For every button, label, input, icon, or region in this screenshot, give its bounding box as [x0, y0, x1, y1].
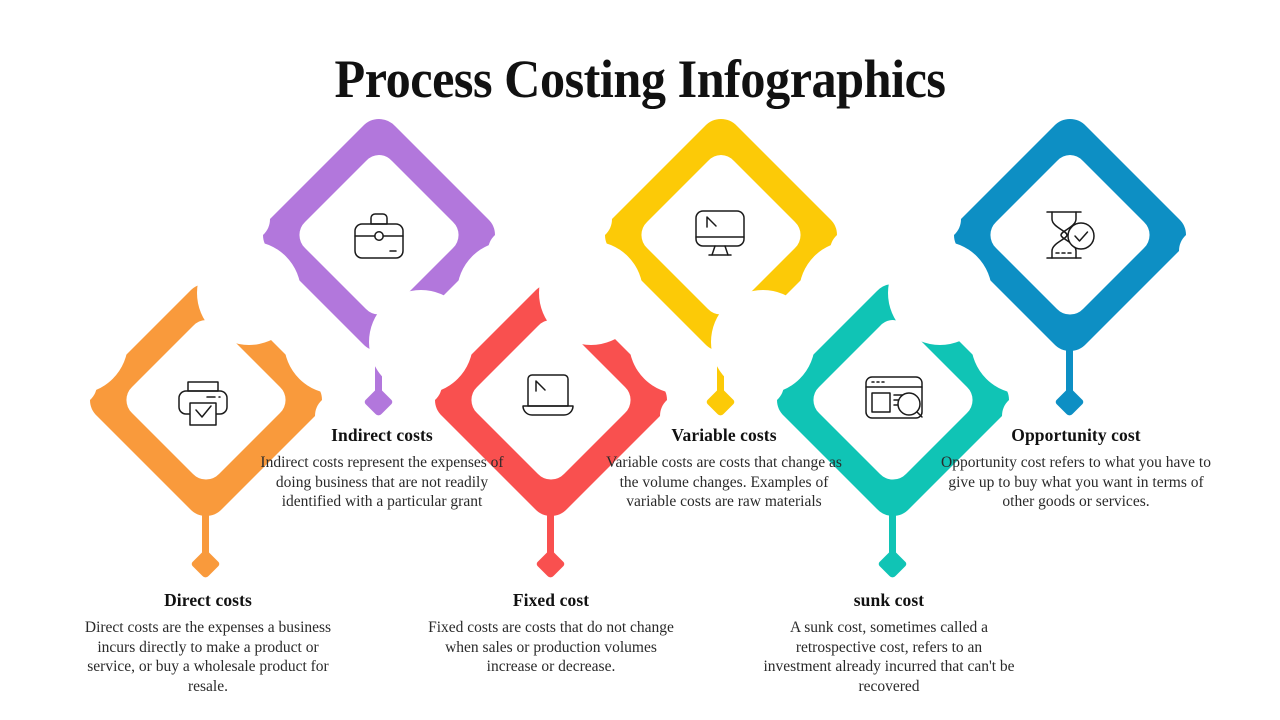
- infographic-canvas: Process Costing Infographics: [0, 0, 1280, 720]
- node-text-sunk-cost: sunk cost A sunk cost, sometimes called …: [760, 590, 1018, 697]
- briefcase-icon: [355, 214, 403, 258]
- node-graphic-opportunity-cost[interactable]: [888, 119, 1186, 415]
- hourglass-clock-icon: [1047, 212, 1094, 258]
- notch-left-opportunity-cost: [888, 241, 992, 345]
- monitor-cursor-icon: [696, 211, 744, 255]
- connector-stem-fixed-cost: [547, 470, 554, 565]
- connector-dot-sunk-cost: [879, 549, 907, 577]
- notch-right-indirect-costs: [457, 241, 561, 345]
- connector-stem-sunk-cost: [889, 470, 896, 565]
- printer-check-icon: [179, 382, 227, 425]
- node-text-variable-costs: Variable costs Variable costs are costs …: [598, 425, 850, 512]
- diamond-outer-indirect-costs: [263, 119, 495, 351]
- notch-left-variable-costs: [539, 241, 643, 345]
- node-heading-sunk-cost: sunk cost: [760, 590, 1018, 612]
- notch-left-fixed-cost: [369, 290, 473, 394]
- connector-dot-opportunity-cost: [1056, 387, 1084, 415]
- node-body-variable-costs: Variable costs are costs that change as …: [598, 453, 850, 512]
- diamond-outer-variable-costs: [605, 119, 837, 351]
- node-heading-fixed-cost: Fixed cost: [424, 590, 678, 612]
- page-title: Process Costing Infographics: [45, 50, 1235, 109]
- notch-right-sunk-cost: [971, 290, 1075, 394]
- node-heading-indirect-costs: Indirect costs: [256, 425, 508, 447]
- connector-dot-fixed-cost: [537, 549, 565, 577]
- node-text-indirect-costs: Indirect costs Indirect costs represent …: [256, 425, 508, 512]
- notch-right-fixed-cost: [629, 290, 733, 394]
- node-graphic-indirect-costs[interactable]: [197, 119, 561, 415]
- node-text-opportunity-cost: Opportunity cost Opportunity cost refers…: [932, 425, 1220, 512]
- notch-left-indirect-costs: [197, 241, 301, 345]
- connector-dot-variable-costs: [707, 387, 735, 415]
- diamond-inner-variable-costs: [641, 155, 800, 315]
- node-heading-direct-costs: Direct costs: [80, 590, 336, 612]
- notch-left-sunk-cost: [711, 290, 815, 394]
- node-text-direct-costs: Direct costs Direct costs are the expens…: [80, 590, 336, 697]
- connector-stem-direct-costs: [202, 470, 209, 565]
- diamond-inner-opportunity-cost: [990, 155, 1149, 315]
- node-graphic-variable-costs[interactable]: [539, 119, 903, 415]
- node-heading-opportunity-cost: Opportunity cost: [932, 425, 1220, 447]
- node-body-fixed-cost: Fixed costs are costs that do not change…: [424, 618, 678, 677]
- connector-stem-opportunity-cost: [1066, 305, 1073, 404]
- diamond-outer-opportunity-cost: [954, 119, 1186, 351]
- notch-right-variable-costs: [799, 241, 903, 345]
- notch-left-direct-costs: [24, 290, 128, 394]
- browser-search-icon: [866, 377, 922, 418]
- connector-stem-indirect-costs: [375, 305, 382, 404]
- node-body-direct-costs: Direct costs are the expenses a business…: [80, 618, 336, 697]
- laptop-cursor-icon: [523, 375, 573, 415]
- node-text-fixed-cost: Fixed cost Fixed costs are costs that do…: [424, 590, 678, 677]
- connector-stem-variable-costs: [717, 305, 724, 404]
- node-body-indirect-costs: Indirect costs represent the expenses of…: [256, 453, 508, 512]
- node-heading-variable-costs: Variable costs: [598, 425, 850, 447]
- connector-dot-indirect-costs: [365, 387, 393, 415]
- node-body-sunk-cost: A sunk cost, sometimes called a retrospe…: [760, 618, 1018, 697]
- diamond-inner-indirect-costs: [299, 155, 458, 315]
- connector-dot-direct-costs: [192, 549, 220, 577]
- node-body-opportunity-cost: Opportunity cost refers to what you have…: [932, 453, 1220, 512]
- notch-right-direct-costs: [284, 290, 388, 394]
